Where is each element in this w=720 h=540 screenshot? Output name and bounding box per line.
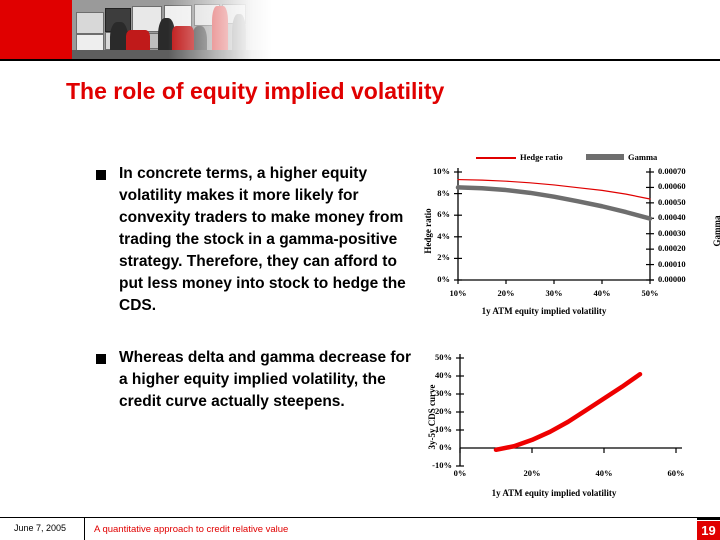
hedge-ratio-gamma-chart: Hedge ratio Gamma Hedge ratio Gamma 1y A…	[414, 146, 720, 318]
y-tick-label: 2%	[437, 252, 450, 262]
y2-tick-label: 0.00000	[658, 274, 686, 284]
list-item: In concrete terms, a higher equity volat…	[96, 163, 416, 317]
bullet-text: Whereas delta and gamma decrease for a h…	[119, 347, 416, 413]
footer-subtitle: A quantitative approach to credit relati…	[94, 524, 288, 535]
x-axis-title-bottom: 1y ATM equity implied volatility	[444, 488, 664, 498]
y2-axis-title-gamma: Gamma	[712, 196, 720, 266]
x-tick-label: 0%	[454, 468, 467, 478]
header-red-block	[0, 0, 72, 60]
x-tick-label: 20%	[524, 468, 541, 478]
y-tick-label: 0%	[439, 442, 452, 452]
y2-tick-label: 0.00020	[658, 243, 686, 253]
header-banner	[0, 0, 720, 60]
series-line-1	[458, 187, 650, 218]
y-tick-label: 4%	[437, 231, 450, 241]
y-tick-label: 10%	[435, 424, 452, 434]
x-tick-label: 30%	[546, 288, 563, 298]
y-tick-label: 30%	[435, 388, 452, 398]
x-tick-label: 20%	[498, 288, 515, 298]
bullet-text: In concrete terms, a higher equity volat…	[119, 163, 416, 317]
x-tick-label: 40%	[596, 468, 613, 478]
chart-plot-area-bottom	[414, 340, 720, 508]
footer-date: June 7, 2005	[14, 523, 66, 533]
bullet-list: In concrete terms, a higher equity volat…	[96, 163, 416, 443]
y-tick-label: 40%	[435, 370, 452, 380]
footer-divider	[84, 518, 85, 540]
page-title: The role of equity implied volatility	[66, 78, 666, 105]
y-axis-title-cds-curve: 3y-5y CDS curve	[427, 372, 437, 462]
y-tick-label: 20%	[435, 406, 452, 416]
square-bullet-icon	[96, 354, 106, 364]
x-tick-label: 50%	[642, 288, 659, 298]
page-number-badge: 19	[697, 521, 720, 540]
header-rule	[0, 59, 720, 61]
y-tick-label: -10%	[432, 460, 452, 470]
header-photo-fade	[72, 0, 272, 60]
y2-tick-label: 0.00060	[658, 181, 686, 191]
y-tick-label: 10%	[433, 166, 450, 176]
x-tick-label: 10%	[450, 288, 467, 298]
cds-curve-chart: 3y-5y CDS curve 1y ATM equity implied vo…	[414, 340, 720, 508]
y2-tick-label: 0.00040	[658, 212, 686, 222]
y-tick-label: 8%	[437, 188, 450, 198]
square-bullet-icon	[96, 170, 106, 180]
y-tick-label: 6%	[437, 209, 450, 219]
x-tick-label: 60%	[668, 468, 685, 478]
y2-tick-label: 0.00050	[658, 197, 686, 207]
y-tick-label: 50%	[435, 352, 452, 362]
y-axis-title-hedge-ratio: Hedge ratio	[423, 196, 433, 266]
list-item: Whereas delta and gamma decrease for a h…	[96, 347, 416, 413]
y2-tick-label: 0.00030	[658, 228, 686, 238]
x-tick-label: 40%	[594, 288, 611, 298]
footer-rule	[0, 517, 720, 518]
y2-tick-label: 0.00010	[658, 259, 686, 269]
x-axis-title-top: 1y ATM equity implied volatility	[444, 306, 644, 316]
page-number-cap	[697, 517, 720, 520]
y-tick-label: 0%	[437, 274, 450, 284]
y2-tick-label: 0.00070	[658, 166, 686, 176]
series-line-0	[496, 374, 640, 450]
